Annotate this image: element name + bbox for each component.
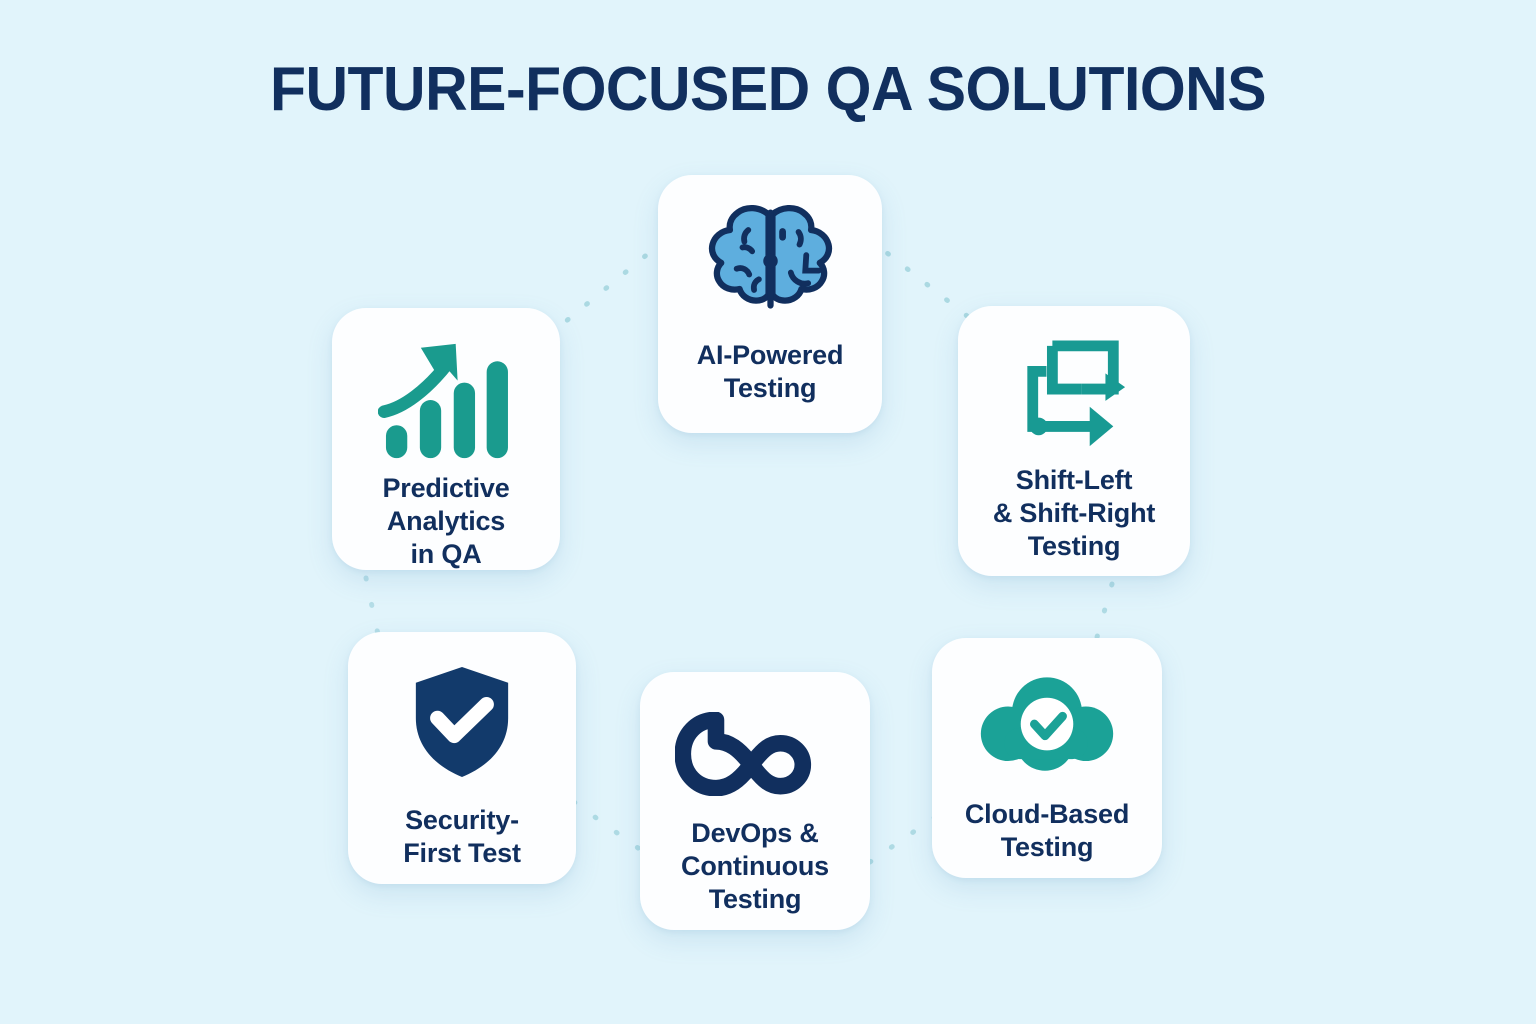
card-predictive-analytics[interactable]: Predictive Analytics in QA [332,308,560,570]
infinity-icon [675,712,835,796]
card-devops-continuous-testing[interactable]: DevOps & Continuous Testing [640,672,870,930]
card-cloud-based-testing[interactable]: Cloud-Based Testing [932,638,1162,878]
card-label-ai: AI-Powered Testing [668,339,872,405]
cloud-check-icon [975,673,1119,779]
card-label-shift: Shift-Left & Shift-Right Testing [968,464,1180,563]
icon-wrap [942,670,1152,782]
card-label-devops: DevOps & Continuous Testing [650,817,860,916]
card-security-first-test[interactable]: Security- First Test [348,632,576,884]
icon-wrap [668,201,872,319]
card-ai-powered-testing[interactable]: AI-Powered Testing [658,175,882,433]
card-label-cloud: Cloud-Based Testing [942,798,1152,864]
growth-bar-chart-icon [378,340,514,462]
shield-check-icon [408,663,516,781]
brain-icon [698,201,843,319]
icon-wrap [342,340,550,462]
card-label-predictive: Predictive Analytics in QA [342,472,550,571]
infographic-canvas: FUTURE-FOCUSED QA SOLUTIONS [0,0,1536,1024]
icon-wrap [650,706,860,801]
card-shift-left-right-testing[interactable]: Shift-Left & Shift-Right Testing [958,306,1190,576]
icon-wrap [968,338,1180,450]
icon-wrap [358,662,566,782]
shift-arrows-icon [1015,338,1133,450]
card-label-security: Security- First Test [358,804,566,870]
page-title: FUTURE-FOCUSED QA SOLUTIONS [38,54,1497,126]
